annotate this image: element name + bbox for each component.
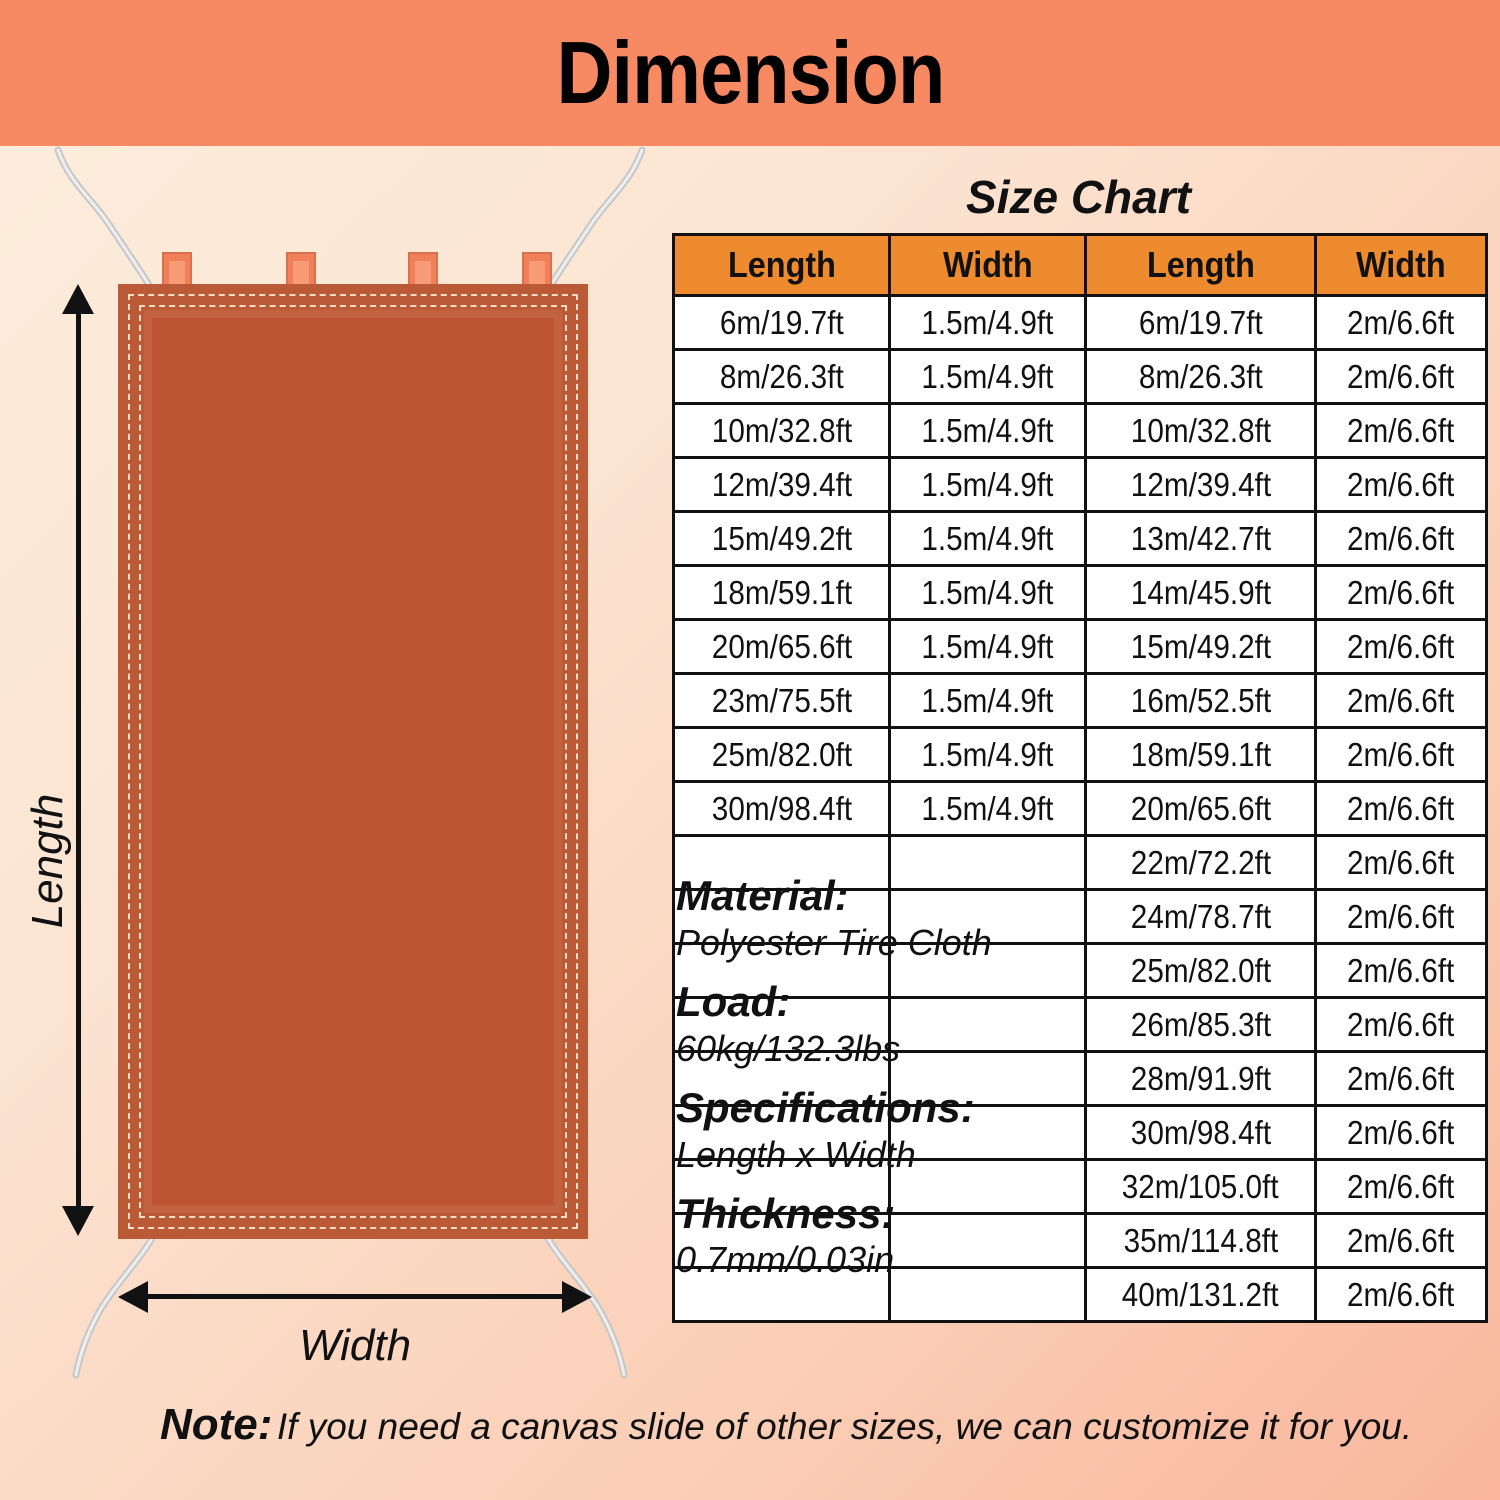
table-cell: 1.5m/4.9ft <box>890 458 1086 512</box>
width-arrow-shaft <box>140 1294 570 1299</box>
table-row: 10m/32.8ft1.5m/4.9ft10m/32.8ft2m/6.6ft <box>674 404 1487 458</box>
table-cell: 40m/131.2ft <box>1086 1268 1316 1322</box>
table-row: 23m/75.5ft1.5m/4.9ft16m/52.5ft2m/6.6ft <box>674 674 1487 728</box>
spec-label: Thickness: <box>676 1190 1056 1239</box>
specifications-block: Material:Polyester Tire ClothLoad:60kg/1… <box>676 872 1056 1296</box>
table-cell: 2m/6.6ft <box>1316 404 1487 458</box>
table-cell: 2m/6.6ft <box>1316 998 1487 1052</box>
table-cell: 13m/42.7ft <box>1086 512 1316 566</box>
table-cell: 2m/6.6ft <box>1316 1214 1487 1268</box>
table-cell: 2m/6.6ft <box>1316 944 1487 998</box>
table-cell: 1.5m/4.9ft <box>890 566 1086 620</box>
column-header-width-2: Width <box>1316 235 1487 296</box>
table-cell: 2m/6.6ft <box>1316 566 1487 620</box>
table-cell: 25m/82.0ft <box>674 728 890 782</box>
table-cell: 2m/6.6ft <box>1316 296 1487 350</box>
table-cell: 15m/49.2ft <box>674 512 890 566</box>
table-cell: 20m/65.6ft <box>674 620 890 674</box>
table-cell: 1.5m/4.9ft <box>890 782 1086 836</box>
table-cell: 20m/65.6ft <box>1086 782 1316 836</box>
header-banner: Dimension <box>0 0 1500 146</box>
note-block: Note: If you need a canvas slide of othe… <box>160 1400 1420 1450</box>
column-header-width-1: Width <box>890 235 1086 296</box>
table-cell: 14m/45.9ft <box>1086 566 1316 620</box>
size-chart-title: Size Chart <box>672 170 1485 224</box>
width-dimension-label: Width <box>195 1321 515 1371</box>
table-cell: 10m/32.8ft <box>1086 404 1316 458</box>
table-cell: 18m/59.1ft <box>1086 728 1316 782</box>
table-cell: 18m/59.1ft <box>674 566 890 620</box>
grommet-tab <box>286 252 316 286</box>
spec-label: Specifications: <box>676 1084 1056 1133</box>
table-cell: 8m/26.3ft <box>674 350 890 404</box>
table-cell: 22m/72.2ft <box>1086 836 1316 890</box>
table-cell: 2m/6.6ft <box>1316 674 1487 728</box>
column-header-length-1: Length <box>674 235 890 296</box>
table-cell: 1.5m/4.9ft <box>890 350 1086 404</box>
product-illustration: Length Width <box>0 146 660 1376</box>
table-row: 30m/98.4ft1.5m/4.9ft20m/65.6ft2m/6.6ft <box>674 782 1487 836</box>
grommet-tab <box>408 252 438 286</box>
table-cell: 2m/6.6ft <box>1316 350 1487 404</box>
table-row: 20m/65.6ft1.5m/4.9ft15m/49.2ft2m/6.6ft <box>674 620 1487 674</box>
spec-value: Polyester Tire Cloth <box>676 921 1056 964</box>
table-cell: 2m/6.6ft <box>1316 890 1487 944</box>
table-cell: 2m/6.6ft <box>1316 836 1487 890</box>
spec-value: Length x Width <box>676 1133 1056 1176</box>
table-cell: 1.5m/4.9ft <box>890 620 1086 674</box>
table-cell: 26m/85.3ft <box>1086 998 1316 1052</box>
grommet-tab <box>522 252 552 286</box>
table-cell: 2m/6.6ft <box>1316 1160 1487 1214</box>
table-cell: 32m/105.0ft <box>1086 1160 1316 1214</box>
table-cell: 1.5m/4.9ft <box>890 728 1086 782</box>
table-cell: 2m/6.6ft <box>1316 1106 1487 1160</box>
table-cell: 28m/91.9ft <box>1086 1052 1316 1106</box>
table-row: 15m/49.2ft1.5m/4.9ft13m/42.7ft2m/6.6ft <box>674 512 1487 566</box>
table-cell: 2m/6.6ft <box>1316 512 1487 566</box>
note-text: If you need a canvas slide of other size… <box>277 1406 1412 1447</box>
table-cell: 2m/6.6ft <box>1316 1052 1487 1106</box>
table-cell: 30m/98.4ft <box>674 782 890 836</box>
table-cell: 25m/82.0ft <box>1086 944 1316 998</box>
table-cell: 1.5m/4.9ft <box>890 404 1086 458</box>
infographic-page: Dimension <box>0 0 1500 1500</box>
table-cell: 15m/49.2ft <box>1086 620 1316 674</box>
table-cell: 2m/6.6ft <box>1316 728 1487 782</box>
rope-top-left-icon <box>40 146 170 306</box>
table-cell: 12m/39.4ft <box>674 458 890 512</box>
table-row: 6m/19.7ft1.5m/4.9ft6m/19.7ft2m/6.6ft <box>674 296 1487 350</box>
length-arrow-head-bottom <box>62 1206 94 1236</box>
table-cell: 6m/19.7ft <box>674 296 890 350</box>
spec-label: Load: <box>676 978 1056 1027</box>
table-cell: 24m/78.7ft <box>1086 890 1316 944</box>
table-cell: 1.5m/4.9ft <box>890 512 1086 566</box>
length-arrow-shaft <box>76 296 81 1226</box>
column-header-length-2: Length <box>1086 235 1316 296</box>
table-cell: 12m/39.4ft <box>1086 458 1316 512</box>
table-cell: 2m/6.6ft <box>1316 1268 1487 1322</box>
table-cell: 6m/19.7ft <box>1086 296 1316 350</box>
table-row: 25m/82.0ft1.5m/4.9ft18m/59.1ft2m/6.6ft <box>674 728 1487 782</box>
spec-value: 60kg/132.3lbs <box>676 1027 1056 1070</box>
tarp-graphic <box>118 284 588 1239</box>
table-cell: 2m/6.6ft <box>1316 458 1487 512</box>
page-title: Dimension <box>556 22 944 124</box>
table-cell: 8m/26.3ft <box>1086 350 1316 404</box>
spec-value: 0.7mm/0.03in <box>676 1238 1056 1281</box>
table-cell: 16m/52.5ft <box>1086 674 1316 728</box>
tarp-body <box>152 318 554 1205</box>
table-cell: 1.5m/4.9ft <box>890 674 1086 728</box>
table-cell: 10m/32.8ft <box>674 404 890 458</box>
table-cell: 35m/114.8ft <box>1086 1214 1316 1268</box>
table-cell: 23m/75.5ft <box>674 674 890 728</box>
grommet-tab <box>162 252 192 286</box>
table-cell: 2m/6.6ft <box>1316 620 1487 674</box>
table-row: 8m/26.3ft1.5m/4.9ft8m/26.3ft2m/6.6ft <box>674 350 1487 404</box>
length-dimension-label: Length <box>23 761 73 961</box>
table-cell: 2m/6.6ft <box>1316 782 1487 836</box>
rope-bottom-left-icon <box>50 1231 170 1381</box>
table-row: 18m/59.1ft1.5m/4.9ft14m/45.9ft2m/6.6ft <box>674 566 1487 620</box>
spec-label: Material: <box>676 872 1056 921</box>
table-cell: 30m/98.4ft <box>1086 1106 1316 1160</box>
width-arrow-head-right <box>562 1281 592 1313</box>
table-row: 12m/39.4ft1.5m/4.9ft12m/39.4ft2m/6.6ft <box>674 458 1487 512</box>
table-cell: 1.5m/4.9ft <box>890 296 1086 350</box>
table-header-row: Length Width Length Width <box>674 235 1487 296</box>
note-label: Note: <box>160 1400 272 1449</box>
